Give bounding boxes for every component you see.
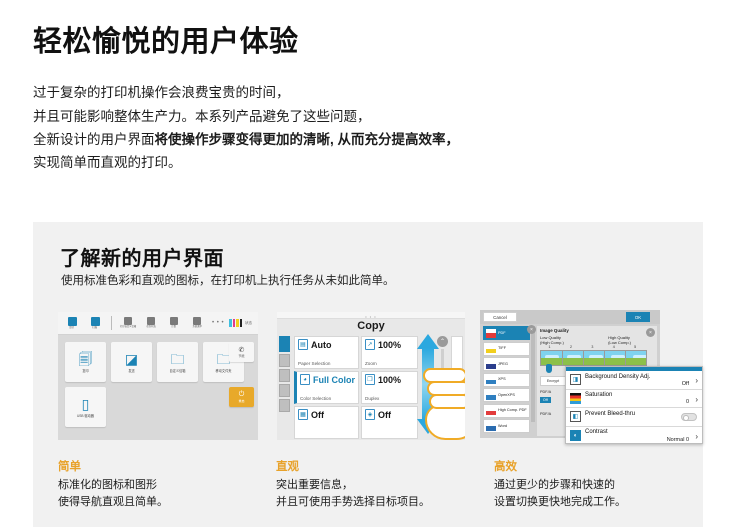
image-quality-high-label: High Quality(Low Comp.)	[608, 335, 631, 345]
pdfa-label: PDF/A	[540, 390, 551, 394]
screenshot-copy: • • • Copy ▤ Auto Paper Selection	[277, 312, 465, 440]
intro-line-1: 过于复杂的打印机操作会浪费宝贵的时间，	[33, 81, 723, 104]
file-format-list: PDF TIFF JPEG XPS OpenXPS	[483, 326, 530, 435]
intro-body: 过于复杂的打印机操作会浪费宝贵的时间， 并且可能影响整体生产力。本系列产品避免了…	[33, 81, 723, 174]
option-background-density[interactable]: ◨ Background Density Adj. Off ›	[566, 371, 702, 390]
intro-line-3-bold: 将使操作步骤变得更加的清晰, 从而充分提高效率，	[155, 132, 460, 147]
scan-icon: ◪	[125, 352, 138, 366]
option-saturation[interactable]: Saturation 0 ›	[566, 390, 702, 409]
pdfa-value[interactable]: Off	[540, 397, 551, 403]
pdfa-label-2: PDF/A	[540, 412, 551, 416]
encrypt-button[interactable]: Encrypt	[540, 376, 566, 386]
caption-simple: 简单 标准化的图标和图形 使得导航直观且简单。	[58, 458, 276, 511]
copy-tab[interactable]	[279, 384, 290, 397]
paper-icon: ▤	[298, 339, 308, 350]
format-item-openxps[interactable]: OpenXPS	[483, 388, 530, 402]
toolbar-counter-icon[interactable]: 计数	[164, 317, 184, 329]
xps-icon	[486, 375, 496, 384]
page-root: 轻松愉悦的用户体验 过于复杂的打印机操作会浪费宝贵的时间， 并且可能影响整体生产…	[0, 0, 750, 527]
power-icon: ⏻	[239, 391, 245, 399]
setting-eco-print[interactable]: ◈ Off	[361, 406, 418, 439]
chevron-right-icon[interactable]: ›	[695, 395, 698, 404]
zoom-icon: ↗	[365, 339, 375, 350]
home-side-buttons: ✆ 节能 ⏻ 重启	[229, 342, 254, 407]
statusbar-ellipsis: • • •	[365, 314, 376, 319]
screenshot-home: 复印 扫描 打印自定义信箱 任务状态 计数 系统菜单 • • •	[58, 312, 258, 440]
close-icon-right[interactable]: ×	[646, 328, 655, 337]
status-text: 状态	[245, 321, 252, 326]
toolbar-job-status-icon[interactable]: 任务状态	[141, 317, 161, 329]
saturation-icon	[570, 393, 581, 404]
copy-icon: 🗐	[79, 352, 93, 366]
bleed-thru-toggle[interactable]	[681, 413, 697, 421]
home-screen: 复印 扫描 打印自定义信箱 任务状态 计数 系统菜单 • • •	[58, 312, 258, 440]
toolbar-copy-icon[interactable]: 复印	[62, 317, 82, 330]
option-contrast[interactable]: ◐ Contrast Normal 0 ›	[566, 427, 702, 446]
image-quality-low-label: Low Quality(High Comp.)	[540, 335, 564, 345]
setting-paper-selection[interactable]: ▤ Auto Paper Selection	[294, 336, 359, 369]
caption-intuitive: 直观 突出重要信息， 并且可使用手势选择目标项目。	[276, 458, 494, 511]
tile-copy[interactable]: 🗐 复印	[65, 342, 106, 382]
word-icon	[486, 422, 496, 431]
image-quality-preview-strip	[540, 350, 647, 366]
copy-title: Copy	[277, 320, 465, 332]
caption-efficient: 高效 通过更少的步骤和快速的 设置切换更快地完成工作。	[494, 458, 714, 511]
caption-row: 简单 标准化的图标和图形 使得导航直观且简单。 直观 突出重要信息， 并且可使用…	[58, 458, 718, 511]
setting-zoom[interactable]: ↗ 100% Zoom	[361, 336, 418, 369]
openxps-icon	[486, 391, 496, 400]
contrast-icon: ◐	[570, 430, 581, 441]
toolbar-system-menu-icon[interactable]: 系统菜单	[187, 317, 207, 329]
power-button[interactable]: ⏻ 重启	[229, 387, 254, 407]
phone-icon: ✆	[239, 346, 245, 354]
copy-tab-rail	[279, 354, 290, 412]
tile-send[interactable]: ◪ 发送	[111, 342, 152, 382]
copy-tab[interactable]	[279, 399, 290, 412]
copy-statusbar: • • •	[277, 312, 465, 319]
toolbar-more-icon[interactable]: • • •	[212, 320, 224, 326]
format-item-pdf[interactable]: PDF	[483, 326, 530, 340]
toolbar-scan-icon[interactable]: 扫描	[85, 317, 105, 330]
hand-gesture-icon	[423, 364, 465, 440]
toolbar-custom-box-icon[interactable]: 打印自定义信箱	[118, 317, 138, 329]
toolbar-status-area: 状态	[229, 319, 254, 327]
format-item-xps[interactable]: XPS	[483, 373, 530, 387]
close-icon-left[interactable]: ×	[527, 325, 536, 334]
intro-line-3-normal: 全新设计的用户界面	[33, 132, 155, 147]
pdf-icon	[486, 329, 496, 338]
folder-icon: 🗀	[171, 352, 185, 366]
jpeg-icon	[486, 360, 496, 369]
duplex-icon: ❐	[365, 374, 375, 385]
copy-tab-active[interactable]	[279, 336, 290, 352]
format-item-word[interactable]: Word	[483, 419, 530, 433]
copy-screen: • • • Copy ▤ Auto Paper Selection	[277, 312, 465, 440]
format-item-tiff[interactable]: TIFF	[483, 342, 530, 356]
eco-icon: ◈	[365, 409, 375, 420]
toner-gauge-icon	[229, 319, 242, 327]
format-list-scrollbar[interactable]	[531, 326, 535, 422]
intro-line-2: 并且可能影响整体生产力。本系列产品避免了这些问题，	[33, 105, 723, 128]
energy-saver-button[interactable]: ✆ 节能	[229, 342, 254, 362]
page-title: 轻松愉悦的用户体验	[33, 26, 723, 59]
setting-color-selection[interactable]: ◕ Full Color Color Selection	[294, 371, 359, 404]
image-quality-title: Image Quality	[540, 328, 569, 333]
panel-heading: 了解新的用户界面	[60, 242, 224, 271]
tile-custom-box[interactable]: 🗀 自定义信箱	[157, 342, 198, 382]
intro-block: 轻松愉悦的用户体验 过于复杂的打印机操作会浪费宝贵的时间， 并且可能影响整体生产…	[33, 26, 723, 174]
format-item-high-comp-pdf[interactable]: High Comp. PDF	[483, 404, 530, 418]
cancel-button[interactable]: Cancel	[483, 312, 517, 322]
high-comp-pdf-icon	[486, 406, 496, 415]
quality-options-overlay: ◨ Background Density Adj. Off › Saturati…	[565, 366, 703, 444]
chevron-right-icon[interactable]: ›	[695, 376, 698, 385]
tile-usb-drive[interactable]: ▯ USB 驱动器	[65, 387, 106, 427]
setting-combine[interactable]: ▦ Off	[294, 406, 359, 439]
home-tile-grid: 🗐 复印 ◪ 发送 🗀 自定义信箱 🗀 移动文件夹 ▯ USB 驱动器	[65, 342, 244, 427]
setting-duplex[interactable]: ❐ 100% Duplex	[361, 371, 418, 404]
copy-tab[interactable]	[279, 369, 290, 382]
color-icon: ◕	[300, 374, 310, 385]
usb-icon: ▯	[82, 397, 90, 411]
option-prevent-bleed-thru[interactable]: ◧ Prevent Bleed-thru	[566, 408, 702, 427]
format-item-jpeg[interactable]: JPEG	[483, 357, 530, 371]
bleed-icon: ◧	[570, 411, 581, 422]
tiff-icon	[486, 344, 496, 353]
intro-line-3: 全新设计的用户界面将使操作步骤变得更加的清晰, 从而充分提高效率，	[33, 128, 723, 151]
chevron-right-icon[interactable]: ›	[695, 432, 698, 441]
ok-button[interactable]: OK	[626, 312, 650, 322]
intro-line-4: 实现简单而直观的打印。	[33, 151, 723, 174]
panel-subheading: 使用标准色彩和直观的图标，在打印机上执行任务从未如此简单。	[61, 272, 395, 288]
copy-tab[interactable]	[279, 354, 290, 367]
image-quality-slider-knob[interactable]	[546, 364, 552, 373]
toolbar-divider	[111, 316, 112, 330]
copy-settings-grid: ▤ Auto Paper Selection ↗ 100% Zoom ◕ Ful	[294, 336, 418, 439]
density-icon: ◨	[570, 374, 581, 385]
home-toolbar: 复印 扫描 打印自定义信箱 任务状态 计数 系统菜单 • • •	[58, 312, 258, 335]
combine-icon: ▦	[298, 409, 308, 420]
